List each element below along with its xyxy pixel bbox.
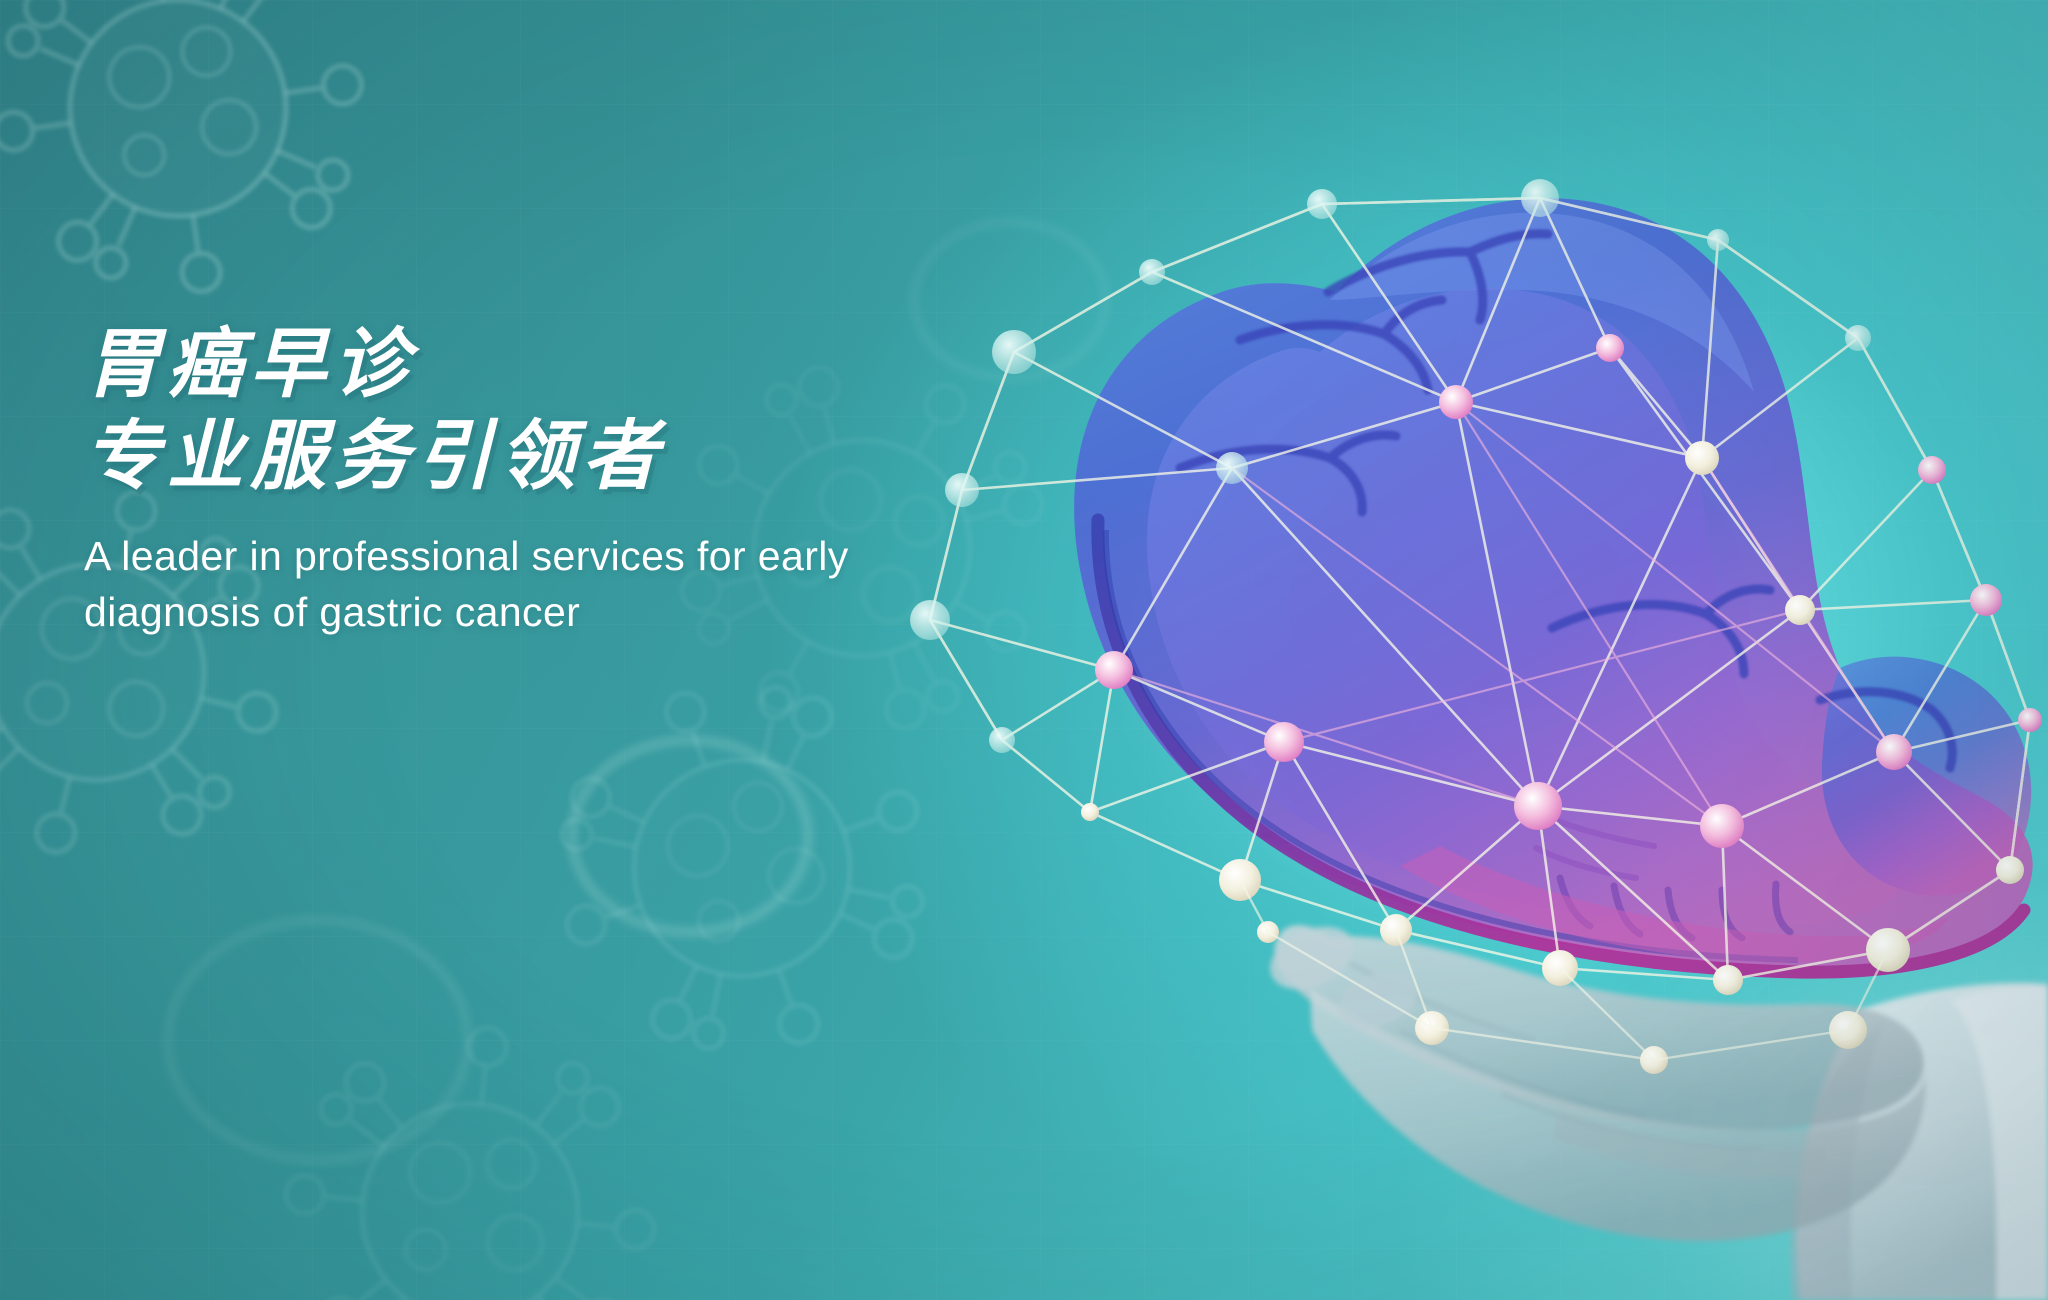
subtitle-en: A leader in professional services for ea…	[84, 528, 984, 640]
stomach-graphic	[0, 0, 2048, 1300]
banner-root: 胃癌早诊 专业服务引领者 A leader in professional se…	[0, 0, 2048, 1300]
stomach-organ	[1074, 198, 2033, 972]
subtitle-en-line2: diagnosis of gastric cancer	[84, 584, 984, 640]
headline-block: 胃癌早诊 专业服务引领者 A leader in professional se…	[84, 322, 984, 640]
headline-cn-line1: 胃癌早诊	[84, 322, 984, 408]
subtitle-en-line1: A leader in professional services for ea…	[84, 528, 984, 584]
headline-cn-line2: 专业服务引领者	[84, 414, 984, 500]
